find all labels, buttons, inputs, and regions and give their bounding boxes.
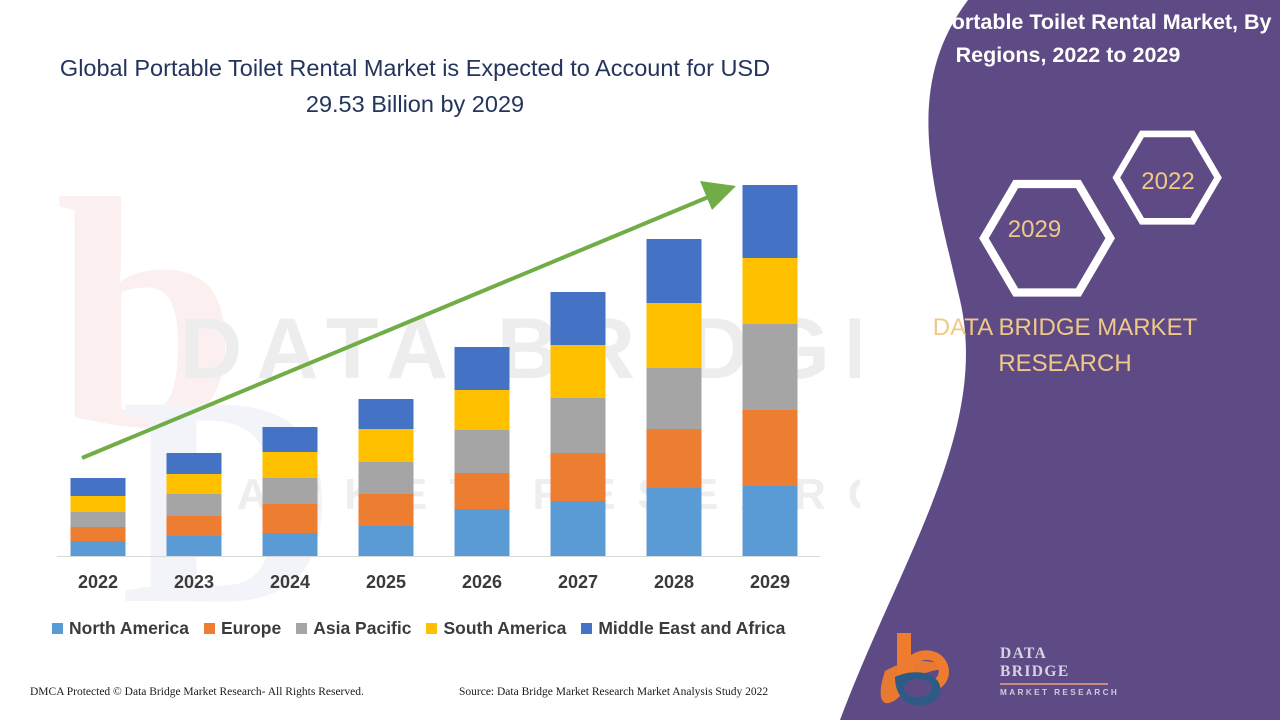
legend-label: North America (69, 618, 189, 639)
bar-segment (551, 292, 606, 345)
hexagon-2029-label: 2029 (977, 216, 1092, 244)
infographic-canvas: b D DATA BRIDGE MARKET RESEARCH Global P… (0, 0, 1280, 720)
bar-segment (71, 496, 126, 512)
bar-segment (743, 486, 798, 556)
bar-segment (455, 390, 510, 430)
bar-segment (359, 494, 414, 526)
bar-segment (647, 429, 702, 488)
legend-label: Asia Pacific (313, 618, 411, 639)
bar-segment (263, 427, 318, 452)
bar-segment (71, 541, 126, 556)
bar-segment (71, 478, 126, 496)
x-axis-label: 2025 (341, 572, 431, 593)
legend-label: Europe (221, 618, 281, 639)
bar-segment (359, 462, 414, 494)
bar-segment (167, 474, 222, 494)
logo-d-counter (904, 679, 932, 697)
chart-legend: North AmericaEuropeAsia PacificSouth Ame… (52, 616, 832, 640)
bar-segment (551, 345, 606, 398)
bar-segment (743, 258, 798, 324)
right-panel: Global Portable Toilet Rental Market, By… (840, 0, 1280, 720)
x-axis-labels: 20222023202420252026202720282029 (0, 572, 840, 602)
bar-group (71, 185, 798, 556)
legend-swatch-icon (204, 623, 215, 634)
bar-segment (743, 410, 798, 486)
bar-segment (359, 429, 414, 462)
hexagon-badges: 2029 2022 (970, 128, 1270, 298)
x-axis-label: 2023 (149, 572, 239, 593)
footer-copyright: DMCA Protected © Data Bridge Market Rese… (30, 686, 364, 698)
bar-segment (167, 494, 222, 516)
bar-segment (359, 526, 414, 556)
footer-source: Source: Data Bridge Market Research Mark… (459, 686, 768, 698)
bar-segment (167, 516, 222, 536)
bar-segment (167, 453, 222, 474)
bar-segment (167, 536, 222, 556)
bar-segment (263, 452, 318, 478)
bar-segment (743, 324, 798, 410)
bar-segment (455, 430, 510, 473)
logo-wordmark-bottom: MARKET RESEARCH (1000, 688, 1120, 697)
bar-segment (647, 368, 702, 429)
bar-segment (263, 533, 318, 556)
panel-title: Global Portable Toilet Rental Market, By… (858, 6, 1278, 72)
logo-wordmark-top: DATA BRIDGE (1000, 645, 1120, 681)
legend-label: South America (443, 618, 566, 639)
logo-divider (1000, 683, 1108, 685)
legend-item[interactable]: Middle East and Africa (581, 618, 785, 639)
x-axis-label: 2028 (629, 572, 719, 593)
bar-segment (551, 453, 606, 501)
legend-label: Middle East and Africa (598, 618, 785, 639)
bar-segment (71, 512, 126, 527)
bar-segment (455, 473, 510, 509)
logo-wordmark: DATA BRIDGE MARKET RESEARCH (1000, 645, 1120, 697)
bar-segment (647, 488, 702, 556)
x-axis-label: 2024 (245, 572, 335, 593)
legend-swatch-icon (296, 623, 307, 634)
legend-item[interactable]: North America (52, 618, 189, 639)
x-axis-label: 2026 (437, 572, 527, 593)
bar-segment (647, 239, 702, 303)
bar-segment (359, 399, 414, 429)
legend-item[interactable]: South America (426, 618, 566, 639)
x-axis-label: 2027 (533, 572, 623, 593)
bar-segment (551, 398, 606, 453)
bar-segment (647, 303, 702, 368)
bar-segment (743, 185, 798, 258)
bar-segment (263, 504, 318, 533)
bar-segment (551, 501, 606, 556)
legend-swatch-icon (52, 623, 63, 634)
x-axis-label: 2029 (725, 572, 815, 593)
bar-segment (263, 478, 318, 504)
brand-name: DATA BRIDGE MARKET RESEARCH (875, 310, 1255, 382)
legend-swatch-icon (426, 623, 437, 634)
bar-segment (455, 509, 510, 556)
bar-chart-plot (0, 0, 860, 600)
x-axis-label: 2022 (53, 572, 143, 593)
hexagon-2022-label: 2022 (1113, 168, 1223, 196)
legend-swatch-icon (581, 623, 592, 634)
bar-segment (71, 527, 126, 541)
legend-item[interactable]: Asia Pacific (296, 618, 411, 639)
legend-item[interactable]: Europe (204, 618, 281, 639)
bar-segment (455, 347, 510, 390)
